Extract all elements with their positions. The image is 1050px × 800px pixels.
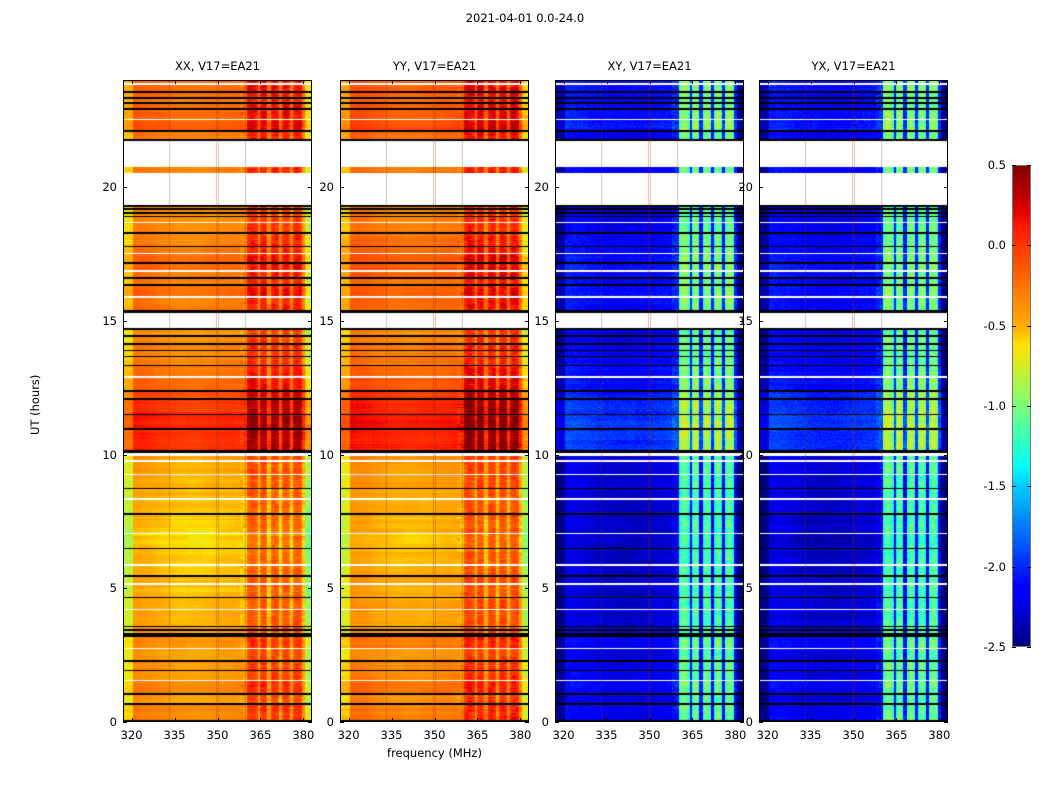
y-tickmark [555, 455, 559, 456]
figure-canvas: 2021-04-01 0.0-24.0 XX, V17=EA2132033535… [0, 0, 1050, 800]
panel-title-yx: YX, V17=EA21 [759, 59, 948, 73]
x-tickmark [477, 718, 478, 722]
y-tick-label: 15 [725, 314, 753, 328]
x-tickmark [692, 718, 693, 722]
x-tickmark [132, 718, 133, 722]
y-tickmark [555, 187, 559, 188]
x-tick-label: 365 [672, 728, 712, 742]
panel-title-yy: YY, V17=EA21 [340, 59, 529, 73]
y-tickmark-right [944, 588, 948, 589]
panel-xx: XX, V17=EA2132033535036538005101520 [123, 80, 312, 722]
x-tick-label: 380 [919, 728, 959, 742]
colorbar-tickmark-right [1027, 245, 1031, 246]
x-tickmark [564, 718, 565, 722]
x-tickmark [435, 718, 436, 722]
x-tick-label: 350 [198, 728, 238, 742]
x-tick-label: 350 [834, 728, 874, 742]
colorbar-tick-label: 0.0 [968, 238, 1006, 252]
y-tick-label: 0 [89, 715, 117, 729]
y-tick-label: 5 [725, 581, 753, 595]
y-tickmark-right [944, 187, 948, 188]
y-tickmark [759, 588, 763, 589]
x-tick-label: 365 [876, 728, 916, 742]
x-tick-label: 320 [748, 728, 788, 742]
colorbar-tickmark-right [1027, 165, 1031, 166]
x-tickmark-top [132, 80, 133, 84]
y-tickmark-right [944, 321, 948, 322]
x-tick-label: 335 [587, 728, 627, 742]
waterfall-image-yx [759, 80, 948, 722]
x-tickmark-top [260, 80, 261, 84]
panel-yy: YY, V17=EA2132033535036538005101520 [340, 80, 529, 722]
x-tickmark [392, 718, 393, 722]
x-tickmark-top [735, 80, 736, 84]
y-tickmark [340, 588, 344, 589]
x-tickmark-top [692, 80, 693, 84]
x-tickmark-top [392, 80, 393, 84]
x-tickmark-top [650, 80, 651, 84]
x-tick-label: 335 [791, 728, 831, 742]
y-tickmark [340, 187, 344, 188]
y-tickmark [123, 588, 127, 589]
y-tick-label: 20 [89, 180, 117, 194]
x-tickmark-top [435, 80, 436, 84]
y-tickmark [340, 321, 344, 322]
colorbar-tickmark-right [1027, 326, 1031, 327]
panel-title-xx: XX, V17=EA21 [123, 59, 312, 73]
x-tick-label: 350 [630, 728, 670, 742]
y-tick-label: 20 [521, 180, 549, 194]
x-tickmark [650, 718, 651, 722]
x-tickmark-top [520, 80, 521, 84]
x-tickmark [349, 718, 350, 722]
y-tick-label: 0 [725, 715, 753, 729]
colorbar-tick-label: -2.0 [968, 560, 1006, 574]
x-tickmark-top [939, 80, 940, 84]
x-tick-label: 365 [240, 728, 280, 742]
x-tickmark [607, 718, 608, 722]
y-tick-label: 15 [89, 314, 117, 328]
y-tick-label: 10 [89, 448, 117, 462]
x-tick-label: 380 [500, 728, 540, 742]
x-tickmark-top [303, 80, 304, 84]
x-tickmark-top [768, 80, 769, 84]
waterfall-image-xx [123, 80, 312, 722]
x-tick-label: 365 [457, 728, 497, 742]
y-tickmark [759, 455, 763, 456]
x-tickmark [768, 718, 769, 722]
y-tickmark-right [944, 455, 948, 456]
y-tickmark [123, 722, 127, 723]
panel-yx: YX, V17=EA2132033535036538005101520 [759, 80, 948, 722]
colorbar-tickmark-right [1027, 406, 1031, 407]
y-tickmark [340, 722, 344, 723]
x-tick-label: 320 [329, 728, 369, 742]
colorbar: 0.50.0-0.5-1.0-1.5-2.0-2.5log10 amplitud… [1012, 165, 1031, 647]
y-tickmark [555, 588, 559, 589]
x-tickmark [811, 718, 812, 722]
x-tickmark-top [896, 80, 897, 84]
colorbar-tickmark [1012, 406, 1016, 407]
colorbar-tickmark [1012, 165, 1016, 166]
x-tickmark [260, 718, 261, 722]
y-tickmark [555, 321, 559, 322]
x-tickmark [939, 718, 940, 722]
x-tick-label: 320 [544, 728, 584, 742]
y-tickmark [759, 722, 763, 723]
x-tickmark-top [477, 80, 478, 84]
y-axis-label: UT (hours) [28, 375, 42, 435]
colorbar-tick-label: -1.0 [968, 399, 1006, 413]
y-tickmark [759, 187, 763, 188]
x-tickmark-top [607, 80, 608, 84]
x-tick-label: 380 [283, 728, 323, 742]
x-tick-label: 335 [155, 728, 195, 742]
colorbar-tickmark [1012, 245, 1016, 246]
y-tickmark [123, 187, 127, 188]
panel-xy: XY, V17=EA2132033535036538005101520 [555, 80, 744, 722]
colorbar-tickmark-right [1027, 647, 1031, 648]
waterfall-image-yy [340, 80, 529, 722]
figure-suptitle: 2021-04-01 0.0-24.0 [0, 11, 1050, 25]
x-tickmark-top [175, 80, 176, 84]
panel-title-xy: XY, V17=EA21 [555, 59, 744, 73]
y-tick-label: 10 [725, 448, 753, 462]
x-tickmark-top [218, 80, 219, 84]
y-tick-label: 10 [306, 448, 334, 462]
y-tick-label: 0 [306, 715, 334, 729]
x-tickmark-top [854, 80, 855, 84]
colorbar-tick-label: -1.5 [968, 479, 1006, 493]
y-tick-label: 0 [521, 715, 549, 729]
colorbar-tickmark [1012, 486, 1016, 487]
x-tickmark-top [811, 80, 812, 84]
y-tick-label: 20 [725, 180, 753, 194]
waterfall-image-xy [555, 80, 744, 722]
colorbar-tickmark [1012, 647, 1016, 648]
y-tickmark [123, 321, 127, 322]
x-axis-label: frequency (MHz) [285, 746, 585, 760]
colorbar-tick-label: -0.5 [968, 319, 1006, 333]
y-tickmark-right [944, 722, 948, 723]
y-tick-label: 10 [521, 448, 549, 462]
x-tickmark [303, 718, 304, 722]
y-tickmark [555, 722, 559, 723]
colorbar-tick-label: -2.5 [968, 640, 1006, 654]
x-tickmark [896, 718, 897, 722]
y-tickmark [123, 455, 127, 456]
colorbar-tickmark [1012, 567, 1016, 568]
y-tick-label: 20 [306, 180, 334, 194]
colorbar-tick-label: 0.5 [968, 158, 1006, 172]
y-tick-label: 5 [521, 581, 549, 595]
x-tick-label: 320 [112, 728, 152, 742]
y-tick-label: 5 [306, 581, 334, 595]
y-tick-label: 15 [306, 314, 334, 328]
x-tick-label: 350 [415, 728, 455, 742]
colorbar-tickmark-right [1027, 486, 1031, 487]
x-tickmark [218, 718, 219, 722]
colorbar-tickmark [1012, 326, 1016, 327]
colorbar-tickmark-right [1027, 567, 1031, 568]
y-tick-label: 15 [521, 314, 549, 328]
y-tickmark [759, 321, 763, 322]
x-tick-label: 335 [372, 728, 412, 742]
y-tickmark [340, 455, 344, 456]
x-tickmark [175, 718, 176, 722]
y-tick-label: 5 [89, 581, 117, 595]
x-tickmark [854, 718, 855, 722]
x-tickmark-top [564, 80, 565, 84]
x-tickmark-top [349, 80, 350, 84]
